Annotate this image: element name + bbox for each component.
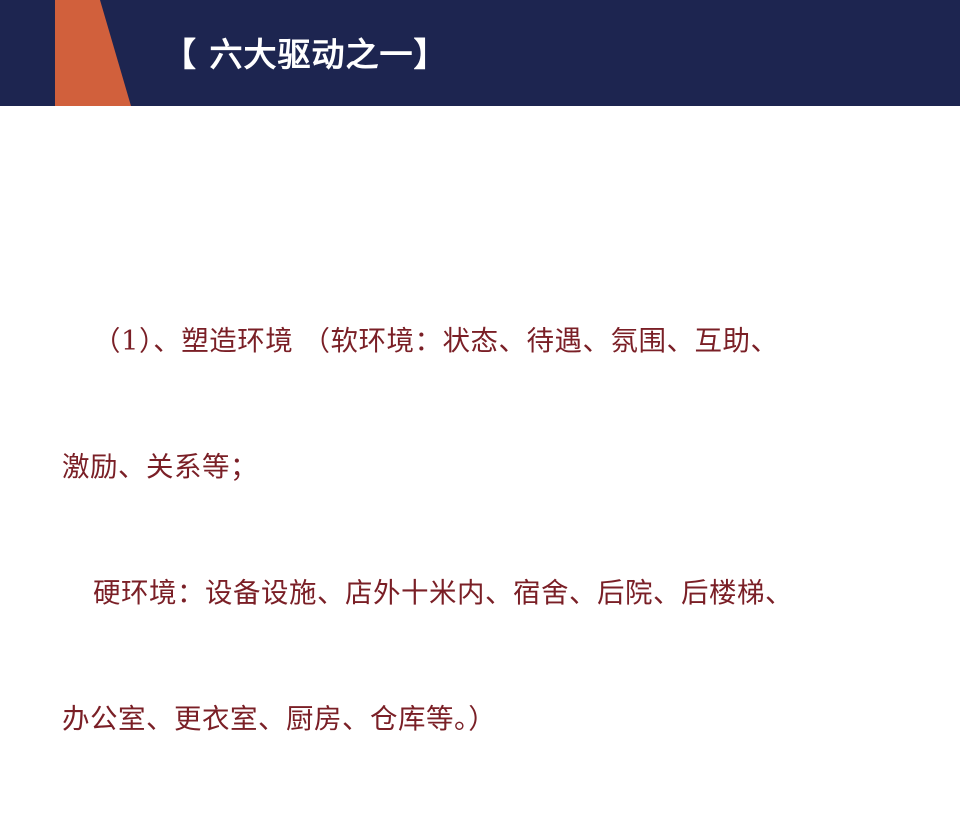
header-band: 【 六大驱动之一】 — [0, 0, 960, 106]
body-text-block: （1）、塑造环境 （软环境：状态、待遇、氛围、互助、 激励、关系等； 硬环境：设… — [62, 236, 932, 824]
page-title: 【 六大驱动之一】 — [163, 33, 448, 77]
body-line-1: （1）、塑造环境 （软环境：状态、待遇、氛围、互助、 — [62, 320, 932, 362]
body-line-2: 激励、关系等； — [62, 446, 932, 488]
body-line-4: 办公室、更衣室、厨房、仓库等。） — [62, 698, 932, 740]
slide-canvas: 【 六大驱动之一】 （1）、塑造环境 （软环境：状态、待遇、氛围、互助、 激励、… — [0, 0, 960, 720]
body-line-3: 硬环境：设备设施、店外十米内、宿舍、后院、后楼梯、 — [62, 572, 932, 614]
